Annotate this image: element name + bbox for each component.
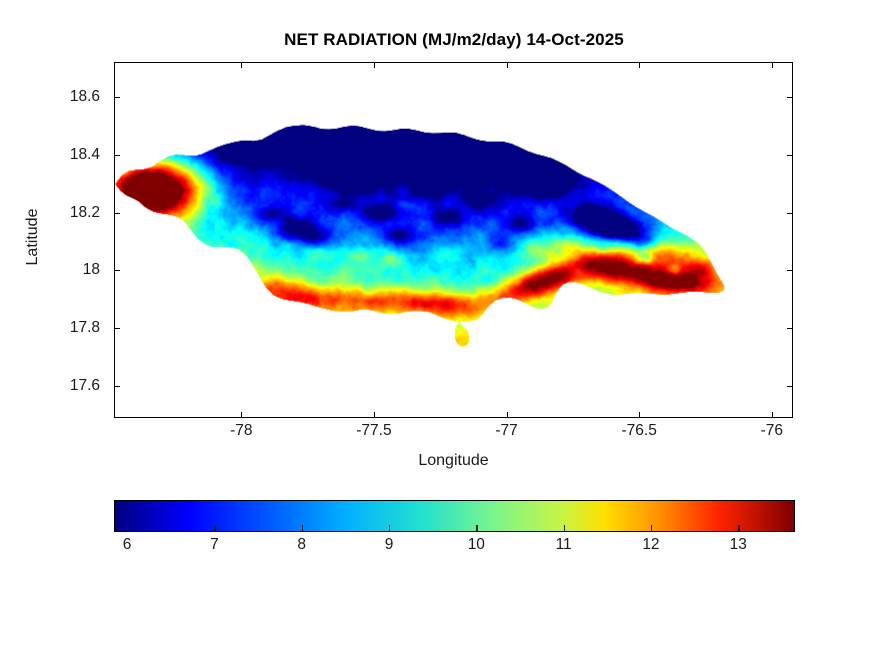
x-tick-label: -77 bbox=[495, 422, 517, 440]
colorbar-tick-label: 13 bbox=[730, 536, 747, 554]
colorbar-tick-label: 6 bbox=[123, 536, 132, 554]
y-tick-label: 17.8 bbox=[0, 319, 100, 337]
page-title: NET RADIATION (MJ/m2/day) 14-Oct-2025 bbox=[114, 30, 794, 50]
y-tick-label: 18.4 bbox=[0, 146, 100, 164]
x-tick-mark-top bbox=[507, 62, 508, 68]
colorbar-tick-mark bbox=[564, 525, 565, 532]
y-tick-mark bbox=[114, 97, 120, 98]
y-tick-mark bbox=[114, 213, 120, 214]
colorbar-tick-mark bbox=[389, 525, 390, 532]
y-tick-label: 18.6 bbox=[0, 88, 100, 106]
y-tick-label: 17.6 bbox=[0, 377, 100, 395]
colorbar-tick-label: 10 bbox=[468, 536, 485, 554]
colorbar-tick-label: 8 bbox=[297, 536, 306, 554]
colorbar-tick-label: 11 bbox=[556, 536, 572, 554]
colorbar-tick-label: 7 bbox=[210, 536, 219, 554]
x-tick-mark-top bbox=[772, 62, 773, 68]
x-tick-mark bbox=[507, 412, 508, 418]
colorbar-tick-label: 9 bbox=[385, 536, 394, 554]
y-tick-label: 18 bbox=[0, 261, 100, 279]
x-tick-mark-top bbox=[374, 62, 375, 68]
y-axis-label: Latitude bbox=[24, 157, 42, 317]
y-tick-mark bbox=[114, 386, 120, 387]
x-axis-label: Longitude bbox=[114, 452, 793, 470]
colorbar-tick-mark bbox=[476, 525, 477, 532]
x-tick-mark-top bbox=[639, 62, 640, 68]
y-tick-mark-right bbox=[787, 386, 793, 387]
x-tick-label: -76.5 bbox=[621, 422, 656, 440]
y-tick-mark-right bbox=[787, 213, 793, 214]
y-tick-mark-right bbox=[787, 270, 793, 271]
colorbar[interactable] bbox=[114, 500, 795, 532]
colorbar-tick-mark bbox=[651, 525, 652, 532]
y-tick-mark-right bbox=[787, 155, 793, 156]
map-axes[interactable] bbox=[114, 62, 793, 418]
x-tick-mark bbox=[374, 412, 375, 418]
x-tick-mark bbox=[639, 412, 640, 418]
x-tick-label: -76 bbox=[761, 422, 783, 440]
net-radiation-heatmap bbox=[115, 63, 792, 417]
colorbar-tick-mark bbox=[738, 525, 739, 532]
y-tick-label: 18.2 bbox=[0, 204, 100, 222]
figure-canvas: NET RADIATION (MJ/m2/day) 14-Oct-2025 -7… bbox=[0, 0, 875, 656]
colorbar-tick-mark bbox=[214, 525, 215, 532]
x-tick-mark bbox=[772, 412, 773, 418]
colorbar-gradient bbox=[114, 500, 795, 532]
colorbar-tick-label: 12 bbox=[642, 536, 659, 554]
colorbar-tick-mark bbox=[302, 525, 303, 532]
x-tick-mark-top bbox=[241, 62, 242, 68]
y-tick-mark-right bbox=[787, 328, 793, 329]
y-tick-mark bbox=[114, 328, 120, 329]
colorbar-tick-mark bbox=[127, 525, 128, 532]
y-tick-mark bbox=[114, 155, 120, 156]
y-tick-mark bbox=[114, 270, 120, 271]
y-tick-mark-right bbox=[787, 97, 793, 98]
x-tick-mark bbox=[241, 412, 242, 418]
x-tick-label: -78 bbox=[230, 422, 252, 440]
x-tick-label: -77.5 bbox=[356, 422, 391, 440]
